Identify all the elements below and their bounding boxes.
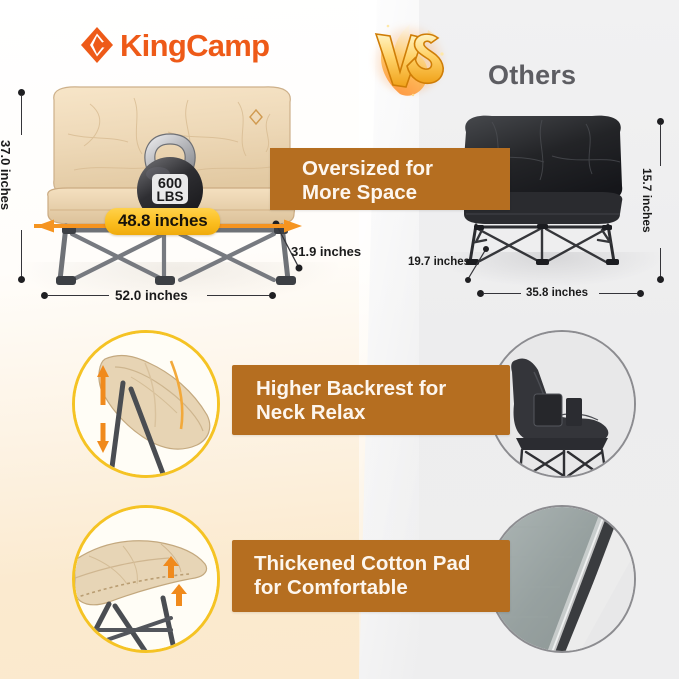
infographic-canvas: KingCamp [0,0,679,679]
kingcamp-diamond-logo-icon [80,26,114,64]
banner3-line2: for Comfortable [254,576,510,600]
feature-banner-backrest: Higher Backrest for Neck Relax [232,365,510,435]
dim-width-line-right [207,295,269,296]
others-width-dot-right [637,290,644,297]
vs-badge [366,16,452,100]
feature-banner-oversized: Oversized for More Space [270,148,510,210]
dim-height-line-lower [21,230,22,278]
dim-width-line-left [47,295,109,296]
others-backrest-label: 15.7 inches [640,168,654,233]
dim-width-label: 52.0 inches [115,288,188,303]
others-backrest-dot-bottom [657,276,664,283]
photo-higher-backrest-kingcamp [72,330,220,478]
banner2-line1: Higher Backrest for [256,377,510,401]
others-width-label: 35.8 inches [526,287,588,299]
vs-flame-badge-icon [366,16,452,100]
seat-width-badge: 48.8 inches [105,208,220,235]
others-label: Others [488,60,576,91]
others-backrest-line-upper [660,124,661,166]
photo-thin-pad-others [488,505,636,653]
weight-unit-text: LBS [157,189,184,204]
banner3-line1: Thickened Cotton Pad [254,552,510,576]
others-width-line-left [483,293,521,294]
banner1-line1: Oversized for [302,157,510,181]
banner1-line2: More Space [302,181,510,205]
dim-height-label: 37.0 inches [0,140,13,210]
brand-name: KingCamp [120,30,269,61]
photo-higher-backrest-others [488,330,636,478]
dim-height-line-upper [21,95,22,135]
others-backrest-line-lower [660,248,661,278]
dim-depth-label: 31.9 inches [291,244,361,259]
dim-height-dot-bottom [18,276,25,283]
dim-width-dot-right [269,292,276,299]
brand-logo: KingCamp [80,26,269,64]
photo-thick-cotton-pad-kingcamp [72,505,220,653]
others-depth-label: 19.7 inches [408,256,470,268]
banner2-line2: Neck Relax [256,401,510,425]
others-width-line-right [599,293,637,294]
feature-banner-cotton-pad: Thickened Cotton Pad for Comfortable [232,540,510,612]
